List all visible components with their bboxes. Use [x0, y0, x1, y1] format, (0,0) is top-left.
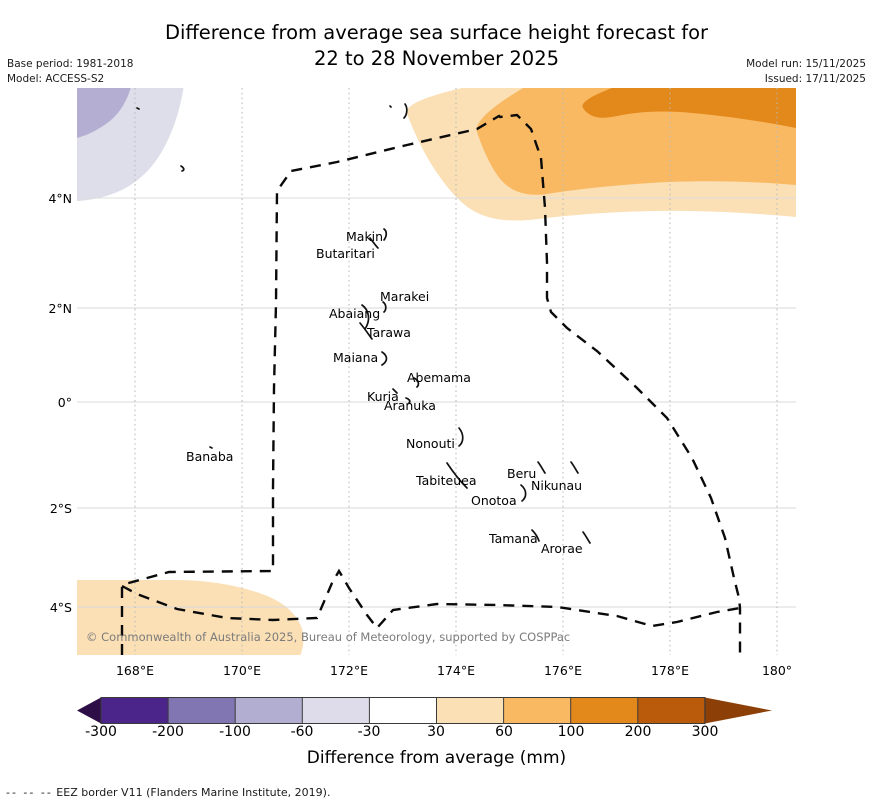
colorbar-label-30: 30: [406, 724, 466, 740]
colorbar-label-minus300: -300: [71, 724, 131, 740]
colorbar-title: Difference from average (mm): [0, 748, 873, 768]
colorbar-swatch-8: [638, 698, 705, 724]
island-outline-nw3: [137, 108, 139, 109]
colorbar-swatch-4: [369, 698, 436, 724]
colorbar-label-minus30: -30: [339, 724, 399, 740]
colorbar-label-minus60: -60: [272, 724, 332, 740]
island-label-onotoa: Onotoa: [471, 493, 517, 508]
map-svg: Makin Butaritari Marakei Abaiang Tarawa …: [77, 88, 796, 655]
credit-text: © Commonwealth of Australia 2025, Bureau…: [86, 630, 570, 644]
colorbar-swatch-6: [504, 698, 571, 724]
island-label-maiana: Maiana: [333, 350, 378, 365]
colorbar-tick-labels: -300 -200 -100 -60 -30 30 60 100 200 300: [0, 724, 873, 744]
island-label-nonouti: Nonouti: [406, 436, 455, 451]
island-outline-onotoa: [521, 485, 526, 501]
base-period-label: Base period: 1981-2018: [7, 58, 133, 70]
xtick-178E: 178°E: [630, 663, 710, 678]
map-plot-area: Makin Butaritari Marakei Abaiang Tarawa …: [77, 88, 796, 655]
xtick-170E: 170°E: [202, 663, 282, 678]
island-outline-makin: [384, 229, 386, 240]
colorbar-label-200: 200: [608, 724, 668, 740]
island-outline-nonouti: [459, 428, 463, 446]
island-outline-maiana: [382, 352, 387, 365]
model-label: Model: ACCESS-S2: [7, 73, 104, 85]
island-label-abemama: Abemama: [407, 370, 471, 385]
island-label-arorae: Arorae: [541, 541, 583, 556]
colorbar-swatch-3: [302, 698, 369, 724]
colorbar-swatches: [77, 698, 772, 724]
island-label-makin: Makin: [346, 229, 383, 244]
xtick-176E: 176°E: [523, 663, 603, 678]
colorbar-label-60: 60: [474, 724, 534, 740]
colorbar-label-minus200: -200: [138, 724, 198, 740]
colorbar-swatch-0: [101, 698, 168, 724]
ytick-4N: 4°N: [6, 191, 72, 206]
ytick-0: 0°: [6, 395, 72, 410]
issued-label: Issued: 17/11/2025: [765, 73, 866, 85]
island-label-nikunau: Nikunau: [531, 478, 582, 493]
sea-surface-height-forecast-figure: Difference from average sea surface heig…: [0, 0, 873, 804]
xtick-180: 180°: [737, 663, 817, 678]
island-label-tarawa: Tarawa: [366, 325, 411, 340]
colorbar-swatch-over: [705, 698, 772, 724]
colorbar: [77, 697, 796, 724]
colorbar-label-300: 300: [675, 724, 735, 740]
xtick-172E: 172°E: [309, 663, 389, 678]
colorbar-swatch-5: [437, 698, 504, 724]
ytick-4S: 4°S: [6, 600, 72, 615]
eez-footnote: -- -- -- EEZ border V11 (Flanders Marine…: [6, 786, 330, 799]
eez-footnote-text: EEZ border V11 (Flanders Marine Institut…: [53, 786, 331, 799]
island-outline-arorae: [583, 532, 590, 543]
ytick-2S: 2°S: [6, 501, 72, 516]
colorbar-label-100: 100: [541, 724, 601, 740]
island-label-aranuka: Aranuka: [384, 398, 436, 413]
colorbar-swatch-1: [168, 698, 235, 724]
island-outline-nw4: [181, 166, 184, 171]
model-run-label: Model run: 15/11/2025: [746, 58, 866, 70]
island-labels: Makin Butaritari Marakei Abaiang Tarawa …: [186, 229, 583, 556]
island-outline-nw2: [404, 104, 407, 118]
island-label-tamana: Tamana: [488, 531, 538, 546]
island-label-marakei: Marakei: [380, 289, 429, 304]
xtick-168E: 168°E: [95, 663, 175, 678]
island-outline-beru: [538, 462, 545, 473]
colorbar-swatch-2: [235, 698, 302, 724]
colorbar-swatch-under: [77, 698, 101, 724]
island-outline-nikunau: [571, 462, 578, 473]
island-label-butaritari: Butaritari: [316, 246, 375, 261]
colorbar-label-minus100: -100: [205, 724, 265, 740]
island-label-tabiteuea: Tabiteuea: [415, 473, 477, 488]
colorbar-swatch-7: [571, 698, 638, 724]
xtick-174E: 174°E: [416, 663, 496, 678]
colorbar-svg: [77, 697, 796, 724]
island-outline-banaba: [210, 447, 212, 448]
island-outline-unnamed-nw: [390, 106, 391, 107]
ytick-2N: 2°N: [6, 301, 72, 316]
island-label-banaba: Banaba: [186, 449, 233, 464]
island-label-abaiang: Abaiang: [329, 306, 380, 321]
eez-footnote-dashes: -- -- --: [6, 786, 53, 799]
